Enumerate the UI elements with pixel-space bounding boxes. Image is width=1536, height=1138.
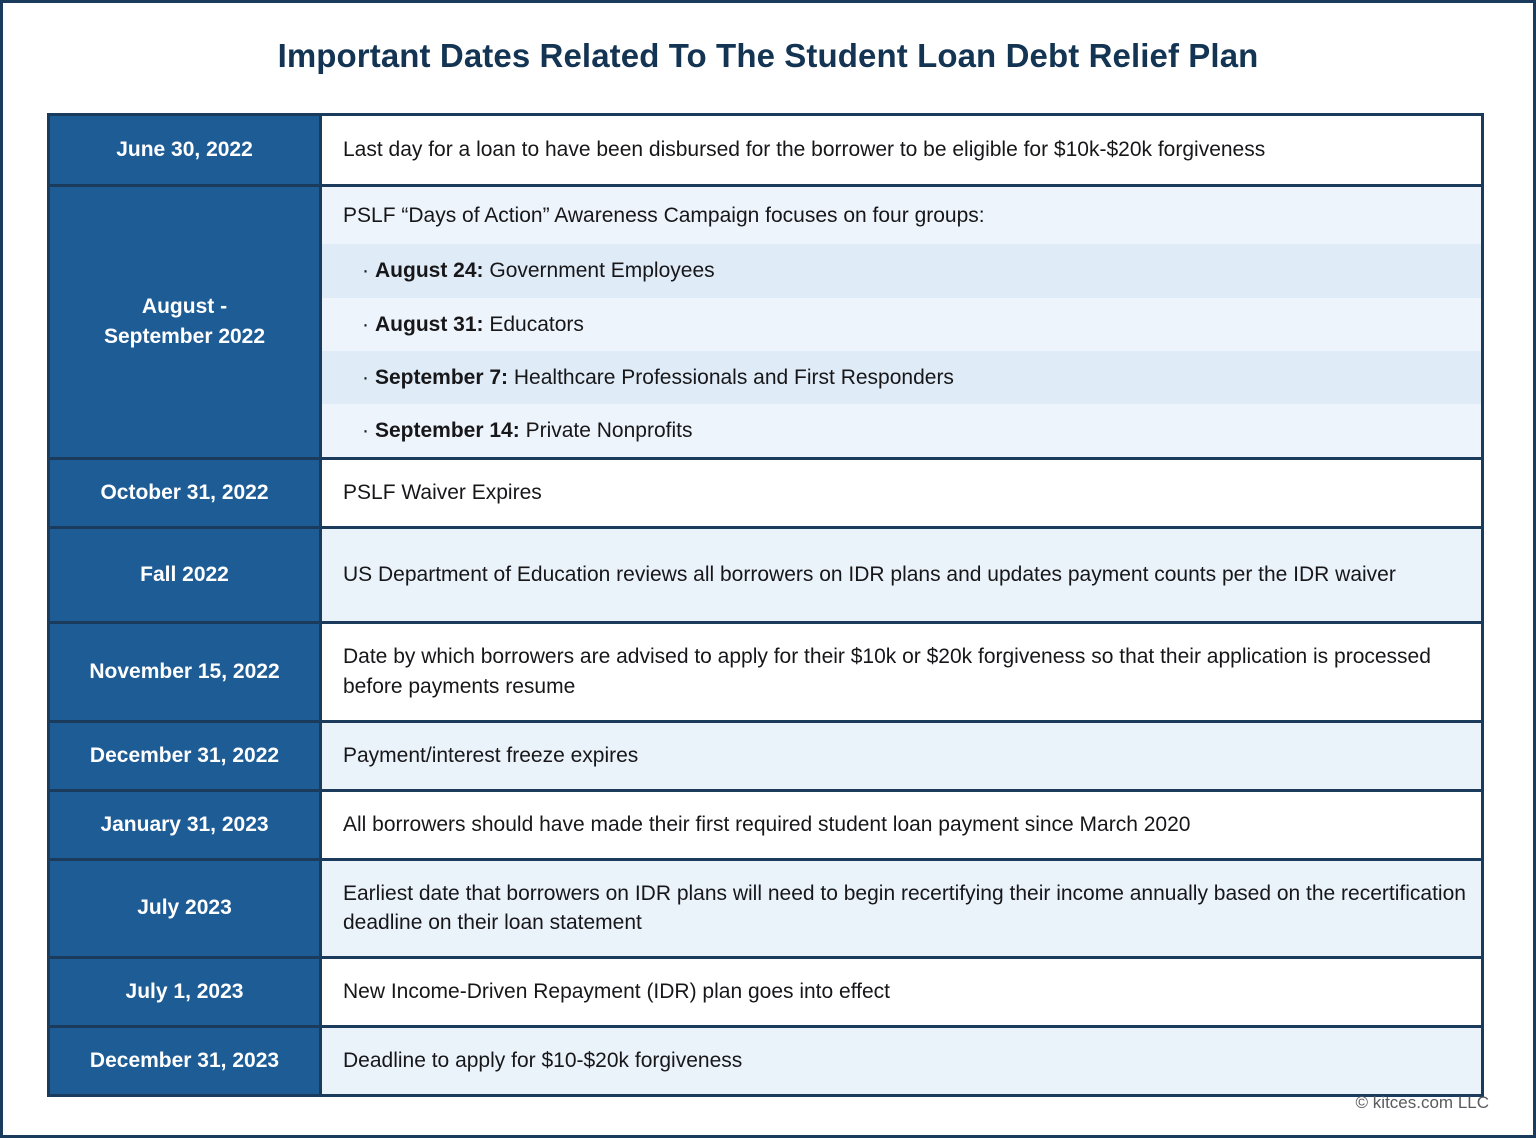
date-cell: November 15, 2022 <box>50 624 322 720</box>
date-cell: July 1, 2023 <box>50 959 322 1025</box>
content-cell: Payment/interest freeze expires <box>322 723 1481 789</box>
date-cell: July 2023 <box>50 861 322 957</box>
date-cell: December 31, 2022 <box>50 723 322 789</box>
campaign-list-item: ·August 24: Government Employees <box>322 244 1481 297</box>
content-cell: All borrowers should have made their fir… <box>322 792 1481 858</box>
content-cell: US Department of Education reviews all b… <box>322 529 1481 621</box>
bullet-icon: · <box>362 417 369 444</box>
table-row: December 31, 2023 Deadline to apply for … <box>50 1028 1481 1094</box>
campaign-item-label: September 14: <box>375 419 520 442</box>
content-text: US Department of Education reviews all b… <box>322 542 1481 608</box>
date-cell: Fall 2022 <box>50 529 322 621</box>
table-row: October 31, 2022 PSLF Waiver Expires <box>50 460 1481 529</box>
content-text: All borrowers should have made their fir… <box>322 792 1481 858</box>
date-cell-line2: September 2022 <box>104 325 265 348</box>
table-row: January 31, 2023 All borrowers should ha… <box>50 792 1481 861</box>
campaign-list-item: ·September 14: Private Nonprofits <box>322 404 1481 457</box>
table-row: Fall 2022 US Department of Education rev… <box>50 529 1481 624</box>
page-title: Important Dates Related To The Student L… <box>3 3 1533 76</box>
content-text: Deadline to apply for $10-$20k forgivene… <box>322 1028 1481 1094</box>
bullet-icon: · <box>362 311 369 338</box>
content-text: New Income-Driven Repayment (IDR) plan g… <box>322 959 1481 1025</box>
content-cell: PSLF Waiver Expires <box>322 460 1481 526</box>
table-row: July 1, 2023 New Income-Driven Repayment… <box>50 959 1481 1028</box>
campaign-list-item: ·August 31: Educators <box>322 298 1481 351</box>
content-text: Payment/interest freeze expires <box>322 723 1481 789</box>
table-row: June 30, 2022 Last day for a loan to hav… <box>50 116 1481 187</box>
bullet-icon: · <box>362 364 369 391</box>
bullet-icon: · <box>362 257 369 284</box>
copyright-footer: © kitces.com LLC <box>1356 1093 1489 1113</box>
table-row: August - September 2022 PSLF “Days of Ac… <box>50 187 1481 460</box>
campaign-item-text: Healthcare Professionals and First Respo… <box>514 366 954 389</box>
content-text: PSLF Waiver Expires <box>322 460 1481 526</box>
content-text: Earliest date that borrowers on IDR plan… <box>322 861 1481 957</box>
campaign-list-item: ·September 7: Healthcare Professionals a… <box>322 351 1481 404</box>
campaign-item-label: August 31: <box>375 313 484 336</box>
date-cell-line1: August - <box>142 295 227 318</box>
content-cell: Date by which borrowers are advised to a… <box>322 624 1481 720</box>
campaign-item-label: September 7: <box>375 366 508 389</box>
content-cell: Last day for a loan to have been disburs… <box>322 116 1481 184</box>
date-cell: January 31, 2023 <box>50 792 322 858</box>
campaign-item-text: Educators <box>489 313 584 336</box>
infographic-page: Important Dates Related To The Student L… <box>0 0 1536 1138</box>
important-dates-table: June 30, 2022 Last day for a loan to hav… <box>47 113 1484 1097</box>
date-cell: June 30, 2022 <box>50 116 322 184</box>
campaign-item-text: Government Employees <box>489 259 714 282</box>
content-cell: PSLF “Days of Action” Awareness Campaign… <box>322 187 1481 457</box>
date-cell: August - September 2022 <box>50 187 322 457</box>
content-text: Date by which borrowers are advised to a… <box>322 624 1481 720</box>
table-row: November 15, 2022 Date by which borrower… <box>50 624 1481 723</box>
content-cell: Earliest date that borrowers on IDR plan… <box>322 861 1481 957</box>
campaign-heading: PSLF “Days of Action” Awareness Campaign… <box>322 187 1481 244</box>
date-cell: December 31, 2023 <box>50 1028 322 1094</box>
campaign-item-text: Private Nonprofits <box>526 419 693 442</box>
table-row: December 31, 2022 Payment/interest freez… <box>50 723 1481 792</box>
content-text: Last day for a loan to have been disburs… <box>322 117 1481 183</box>
content-cell: New Income-Driven Repayment (IDR) plan g… <box>322 959 1481 1025</box>
table-row: July 2023 Earliest date that borrowers o… <box>50 861 1481 960</box>
content-cell: Deadline to apply for $10-$20k forgivene… <box>322 1028 1481 1094</box>
campaign-item-label: August 24: <box>375 259 484 282</box>
campaign-block: PSLF “Days of Action” Awareness Campaign… <box>322 187 1481 457</box>
date-cell: October 31, 2022 <box>50 460 322 526</box>
